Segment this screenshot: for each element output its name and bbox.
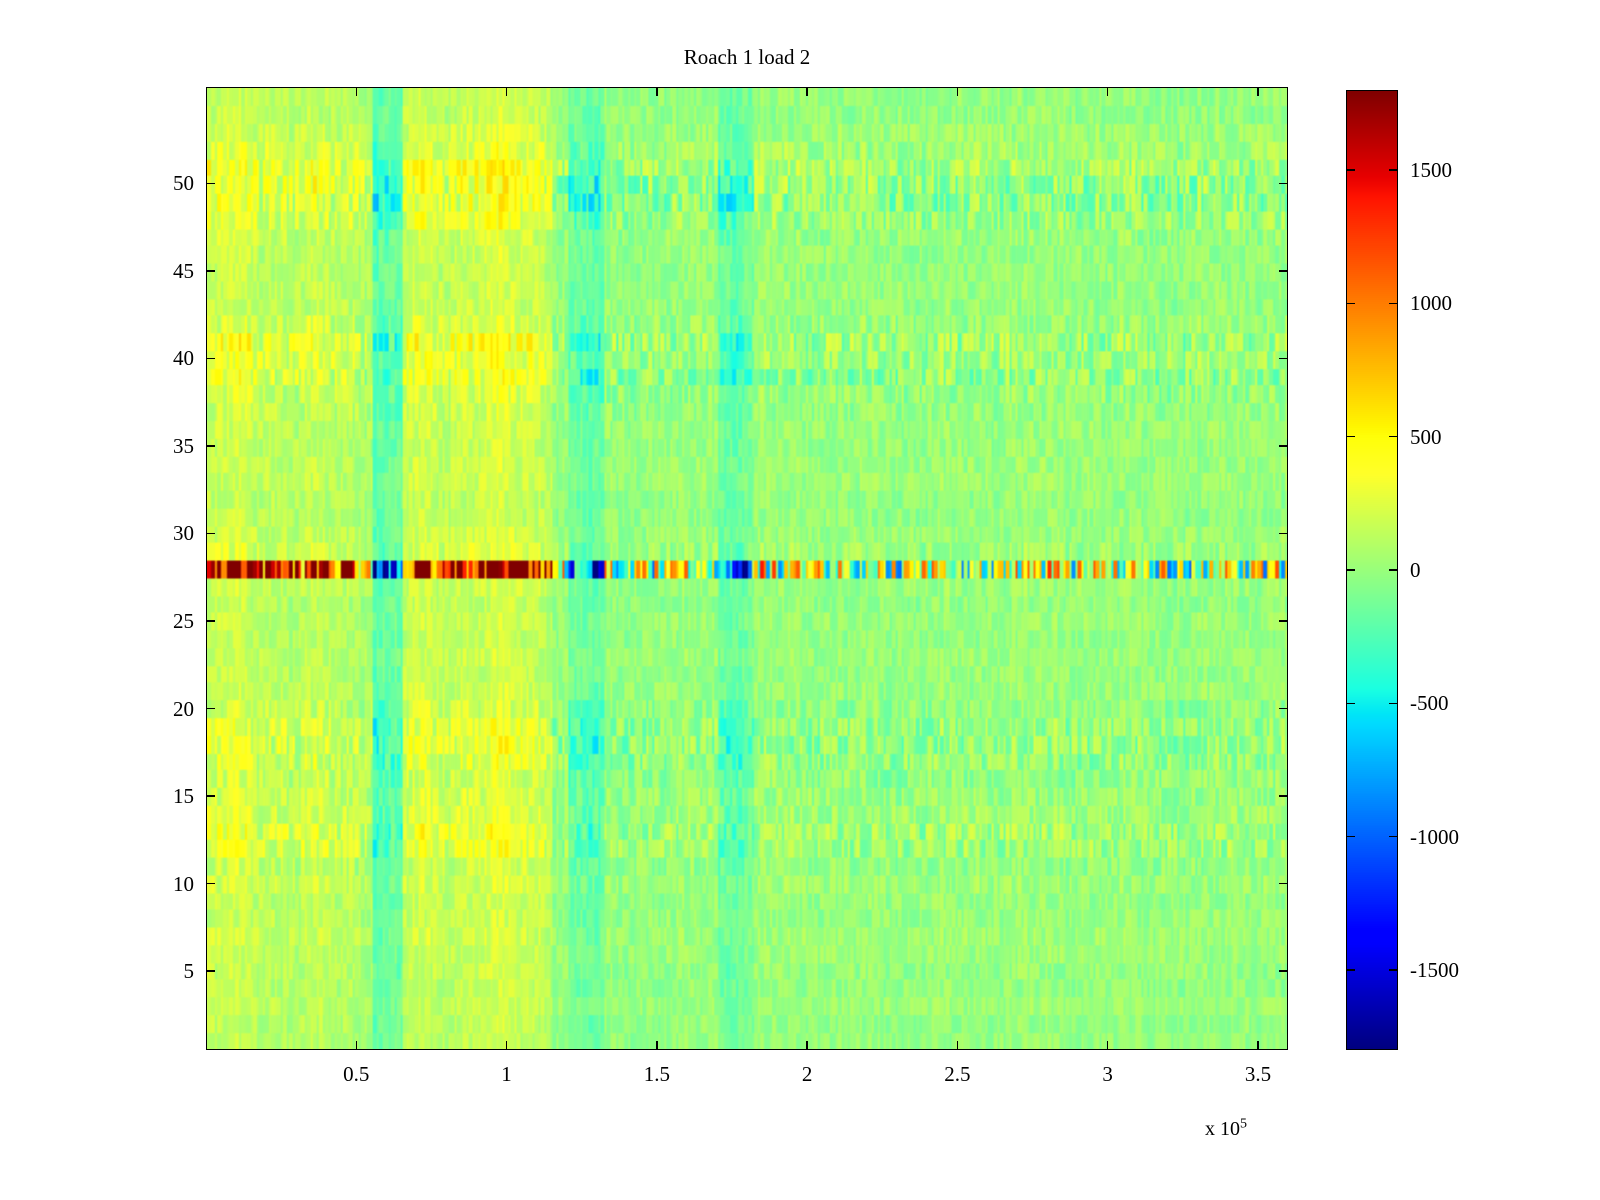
x-tick-label: 1 [501, 1062, 512, 1086]
colorbar-tick-mark-left [1346, 436, 1355, 438]
x-tick-mark [1107, 1041, 1109, 1050]
x-tick-mark-top [1257, 87, 1259, 96]
colorbar-tick-mark-left [1346, 836, 1355, 838]
y-tick-label: 50 [146, 171, 194, 195]
colorbar-tick-label: -1000 [1410, 825, 1459, 849]
y-tick-label: 15 [146, 784, 194, 808]
x-axis-exponent-label: x 105 [1205, 1118, 1247, 1140]
x-tick-mark [656, 1041, 658, 1050]
colorbar-tick-mark-right [1389, 436, 1398, 438]
page-title: Roach 1 load 2 [206, 44, 1288, 70]
x-tick-label: 3.5 [1245, 1062, 1271, 1086]
y-tick-mark [206, 270, 215, 272]
x-exponent-base: x 10 [1205, 1118, 1240, 1140]
y-tick-mark [206, 358, 215, 360]
y-tick-mark [206, 795, 215, 797]
y-tick-label: 20 [146, 697, 194, 721]
colorbar-tick-mark-right [1389, 969, 1398, 971]
x-tick-label: 2.5 [944, 1062, 970, 1086]
heatmap-plot-area [206, 87, 1288, 1050]
colorbar-tick-mark-left [1346, 703, 1355, 705]
y-tick-mark [206, 970, 215, 972]
colorbar-tick-mark-right [1389, 703, 1398, 705]
matlab-figure: Roach 1 load 2 0.511.522.533.5 510152025… [0, 0, 1600, 1200]
colorbar-tick-label: 0 [1410, 558, 1421, 582]
x-tick-label: 3 [1102, 1062, 1113, 1086]
colorbar-tick-mark-left [1346, 169, 1355, 171]
y-tick-label: 35 [146, 434, 194, 458]
y-tick-mark [206, 708, 215, 710]
y-tick-mark-right [1279, 883, 1288, 885]
y-tick-label: 45 [146, 259, 194, 283]
colorbar-tick-mark-right [1389, 836, 1398, 838]
colorbar-tick-label: -500 [1410, 691, 1449, 715]
y-tick-mark-right [1279, 795, 1288, 797]
colorbar-tick-mark-left [1346, 303, 1355, 305]
y-tick-label: 5 [146, 959, 194, 983]
y-tick-mark-right [1279, 445, 1288, 447]
colorbar-tick-mark-left [1346, 569, 1355, 571]
heatmap-image [207, 88, 1287, 1049]
colorbar-tick-label: 1000 [1410, 291, 1452, 315]
x-tick-label: 0.5 [343, 1062, 369, 1086]
y-tick-mark-right [1279, 708, 1288, 710]
y-tick-mark-right [1279, 270, 1288, 272]
colorbar-tick-mark-left [1346, 969, 1355, 971]
x-tick-mark [506, 1041, 508, 1050]
x-tick-mark-top [356, 87, 358, 96]
x-tick-mark-top [957, 87, 959, 96]
colorbar-tick-mark-right [1389, 169, 1398, 171]
x-tick-mark [806, 1041, 808, 1050]
x-tick-mark [356, 1041, 358, 1050]
colorbar-tick-mark-right [1389, 569, 1398, 571]
y-tick-mark [206, 445, 215, 447]
colorbar-tick-label: -1500 [1410, 958, 1459, 982]
x-tick-mark-top [806, 87, 808, 96]
y-tick-mark [206, 533, 215, 535]
colorbar-tick-label: 500 [1410, 425, 1442, 449]
y-tick-mark [206, 883, 215, 885]
y-tick-label: 10 [146, 872, 194, 896]
colorbar-tick-mark-right [1389, 303, 1398, 305]
x-tick-mark-top [1107, 87, 1109, 96]
x-tick-label: 2 [802, 1062, 813, 1086]
x-tick-label: 1.5 [644, 1062, 670, 1086]
y-tick-mark-right [1279, 970, 1288, 972]
y-tick-mark [206, 183, 215, 185]
y-tick-mark-right [1279, 620, 1288, 622]
x-exponent-power: 5 [1240, 1116, 1247, 1131]
colorbar-tick-label: 1500 [1410, 158, 1452, 182]
x-tick-mark-top [506, 87, 508, 96]
x-tick-mark [957, 1041, 959, 1050]
y-tick-mark-right [1279, 533, 1288, 535]
x-tick-mark [1257, 1041, 1259, 1050]
y-tick-mark-right [1279, 183, 1288, 185]
y-tick-mark-right [1279, 358, 1288, 360]
y-tick-label: 40 [146, 346, 194, 370]
y-tick-label: 25 [146, 609, 194, 633]
y-tick-label: 30 [146, 521, 194, 545]
y-tick-mark [206, 620, 215, 622]
x-tick-mark-top [656, 87, 658, 96]
